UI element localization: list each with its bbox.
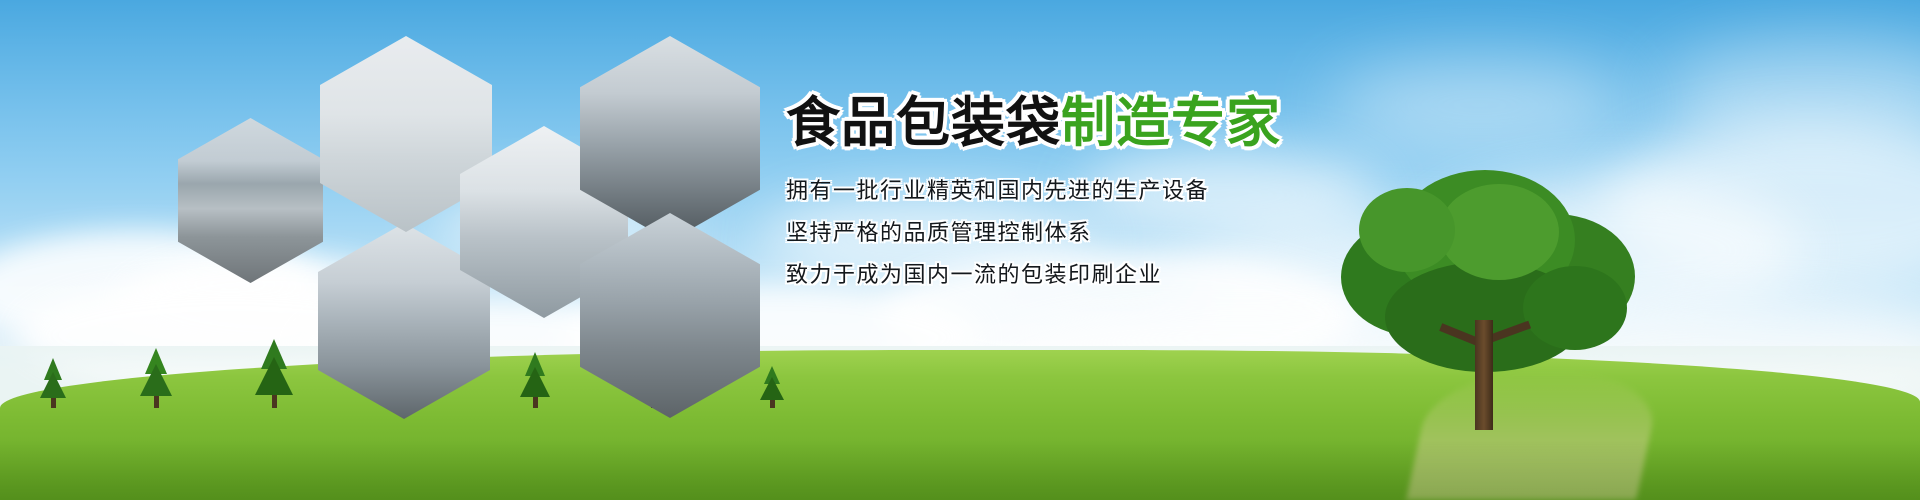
- hex-photo-collage: [170, 18, 780, 368]
- hero-banner: 食品包装袋制造专家 拥有一批行业精英和国内先进的生产设备 坚持严格的品质管理控制…: [0, 0, 1920, 500]
- banner-subtitle-list: 拥有一批行业精英和国内先进的生产设备 坚持严格的品质管理控制体系 致力于成为国内…: [786, 180, 1486, 286]
- collage-photo-warehouse-aisle: [178, 118, 323, 283]
- headline-primary-text: 食品包装袋: [786, 93, 1061, 153]
- headline-accent-text: 制造专家: [1061, 93, 1281, 153]
- banner-subtitle-line: 致力于成为国内一流的包装印刷企业: [786, 264, 1486, 286]
- banner-subtitle-line: 拥有一批行业精英和国内先进的生产设备: [786, 180, 1486, 202]
- banner-text-block: 食品包装袋制造专家 拥有一批行业精英和国内先进的生产设备 坚持严格的品质管理控制…: [786, 95, 1486, 286]
- grass-shadow: [0, 440, 1920, 500]
- banner-subtitle-line: 坚持严格的品质管理控制体系: [786, 222, 1486, 244]
- banner-headline: 食品包装袋制造专家: [786, 95, 1486, 152]
